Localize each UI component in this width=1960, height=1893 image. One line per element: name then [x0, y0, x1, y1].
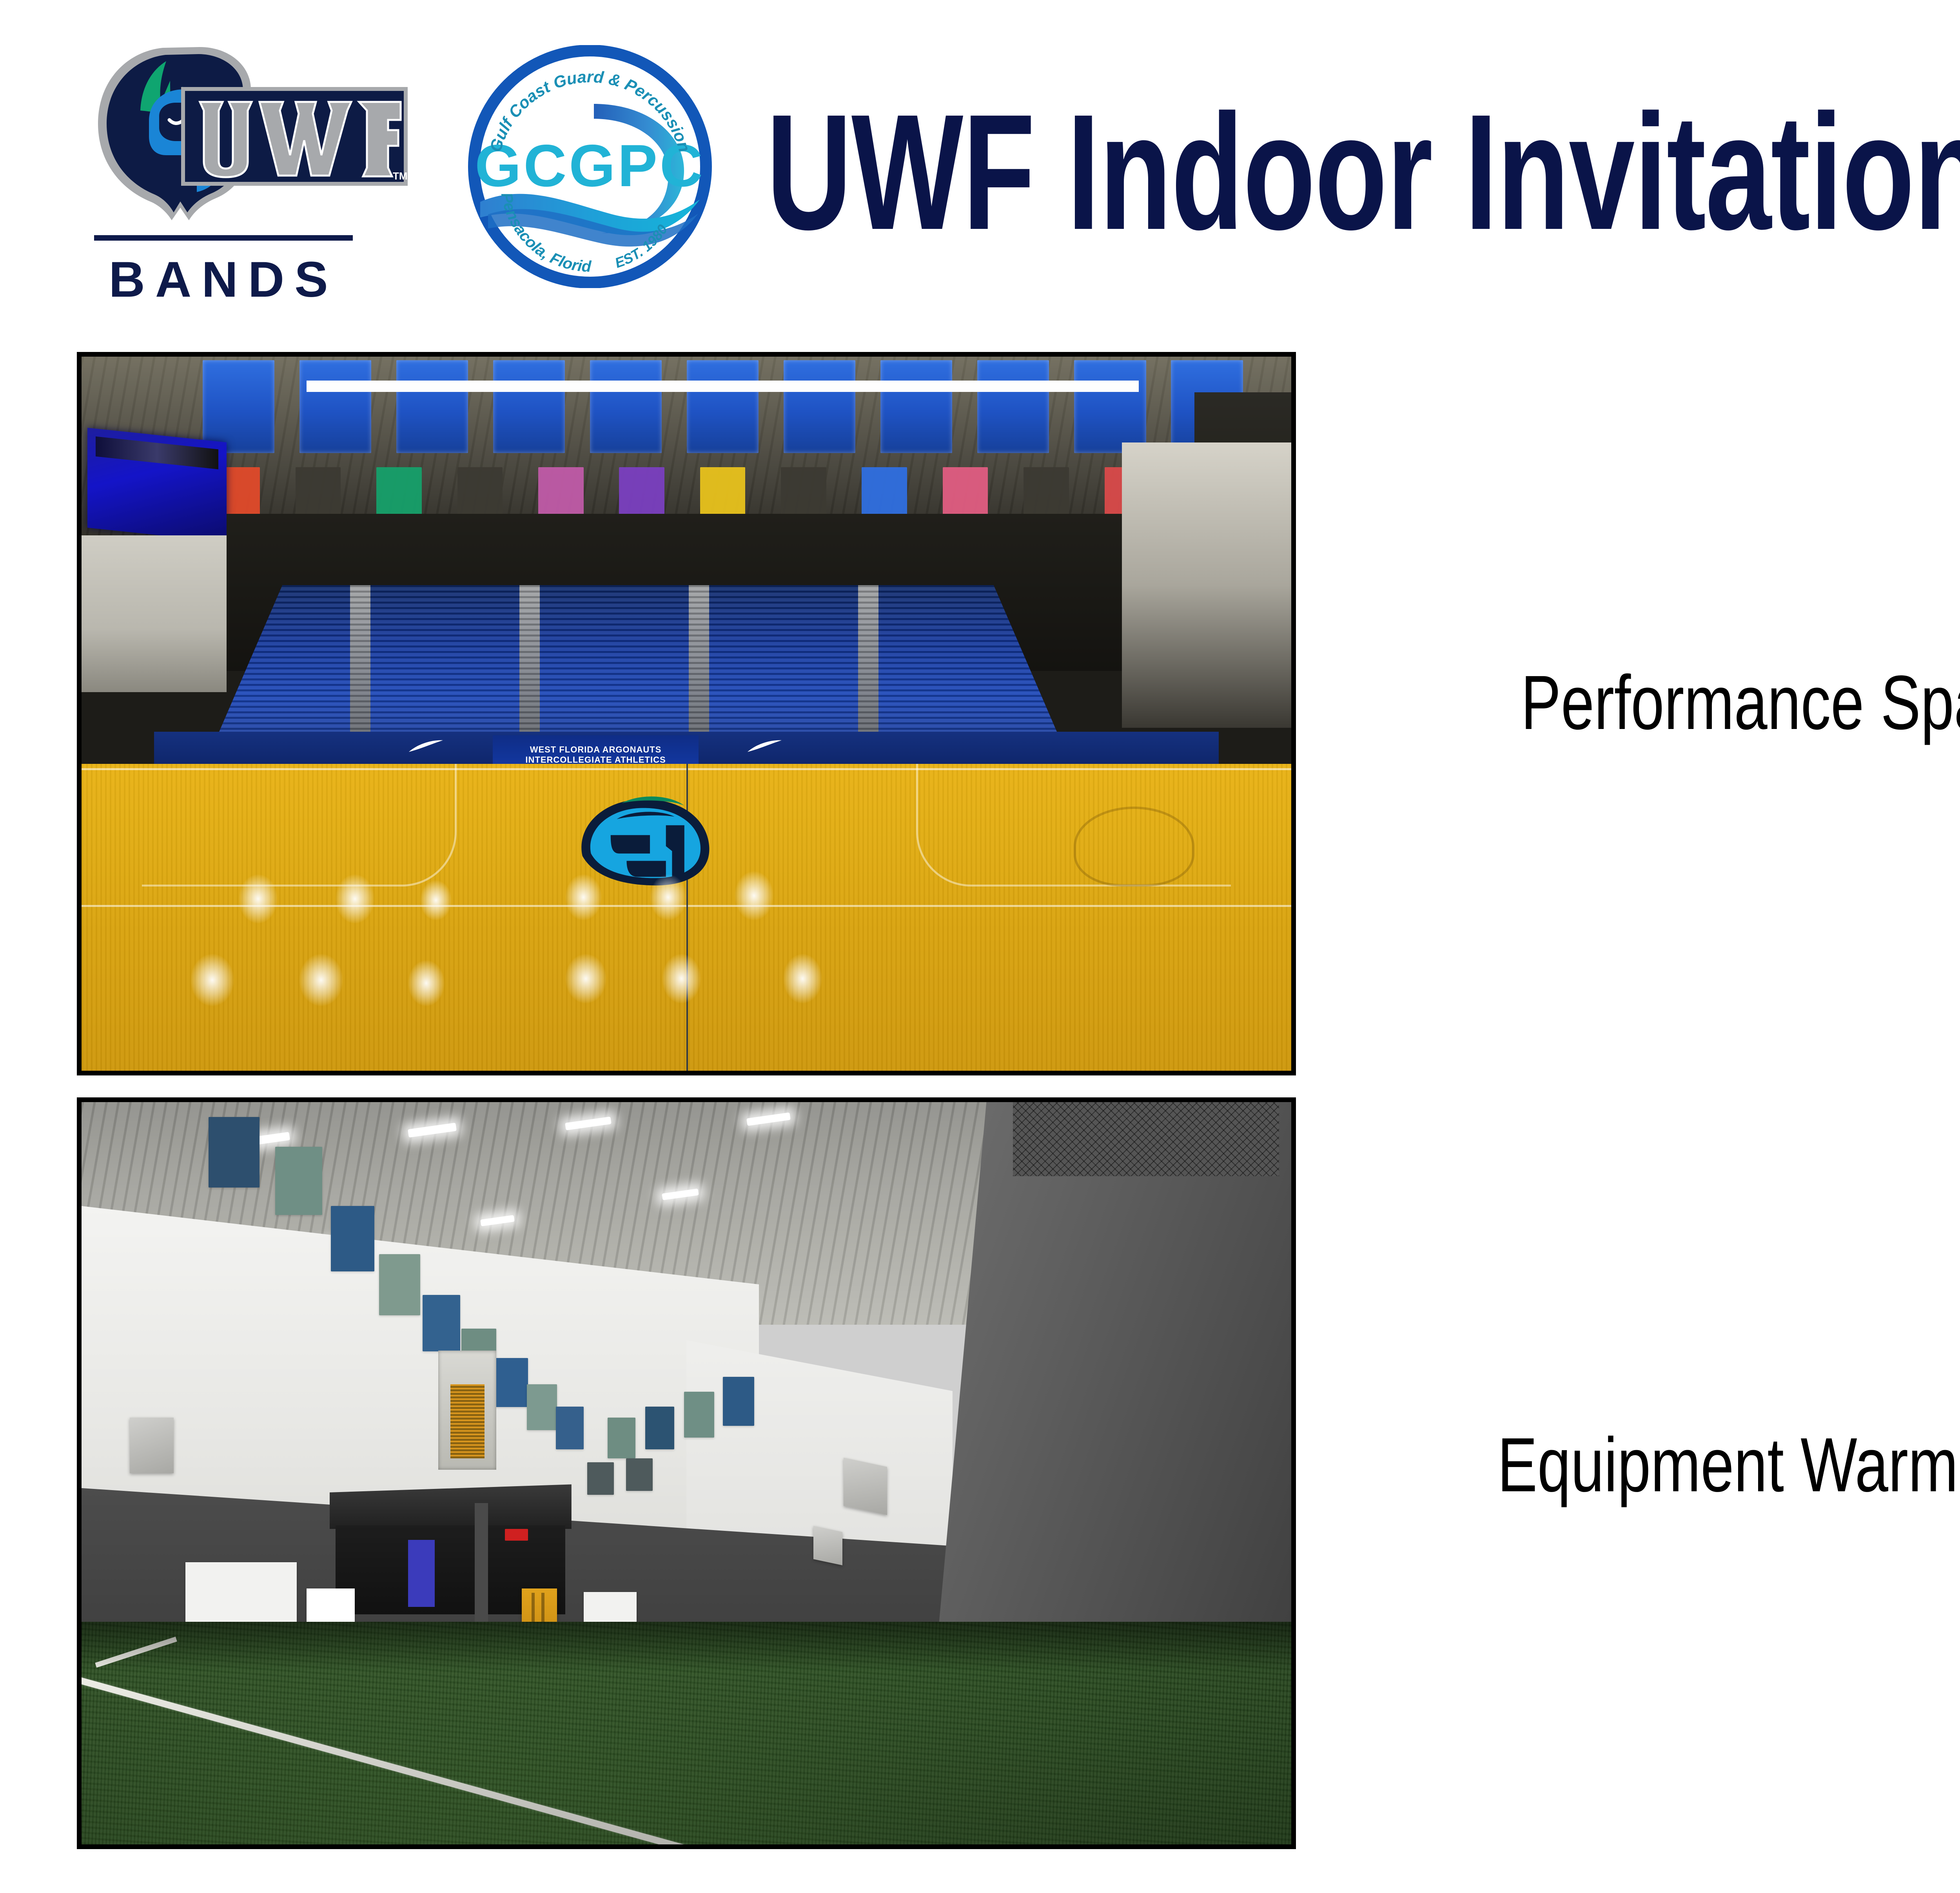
arena-right-wall [1122, 442, 1291, 728]
indoor-turf-scene [82, 1102, 1291, 1844]
arena-scoreboard [87, 428, 227, 542]
arena-scene: WEST FLORIDA ARGONAUTS INTERCOLLEGIATE A… [82, 357, 1291, 1071]
turf-field [82, 1622, 1291, 1844]
nike-swoosh-icon [408, 740, 445, 761]
uwf-divider-rule [94, 235, 353, 241]
equipment-warm-up-photo [77, 1097, 1296, 1849]
uwf-bands-label: BANDS [94, 255, 353, 305]
championship-banners [203, 360, 1243, 453]
gcgpc-logo: GCGPC Gulf Coast Guard & Percussion Pens… [465, 45, 715, 288]
svg-text:TM: TM [393, 170, 408, 182]
uwf-bands-logo: TM BANDS [82, 43, 412, 302]
press-sign-line-2: INTERCOLLEGIATE ATHLETICS [525, 755, 666, 765]
nike-swoosh-icon [747, 740, 783, 761]
argonaut-helmet-court-logo [481, 782, 819, 893]
arena-left-wall [82, 535, 227, 693]
slide-root: TM BANDS [0, 0, 1960, 1893]
exit-sign [505, 1529, 528, 1541]
page-title: UWF Indoor Invitational [766, 90, 1952, 267]
slide-header: TM BANDS [0, 0, 1960, 329]
uwf-spartan-helmet-logo: TM [82, 43, 416, 227]
facility-netting [1013, 1102, 1279, 1176]
arena-bleachers [214, 585, 1061, 742]
equipment-warm-up-caption: Equipment Warm Up [1497, 1427, 1960, 1503]
performance-space-photo: WEST FLORIDA ARGONAUTS INTERCOLLEGIATE A… [77, 352, 1296, 1075]
press-sign-line-1: WEST FLORIDA ARGONAUTS [530, 745, 662, 754]
performance-space-caption: Performance Space [1521, 664, 1960, 741]
arena-court-floor [82, 764, 1291, 1071]
svg-text:GCGPC: GCGPC [475, 132, 705, 199]
